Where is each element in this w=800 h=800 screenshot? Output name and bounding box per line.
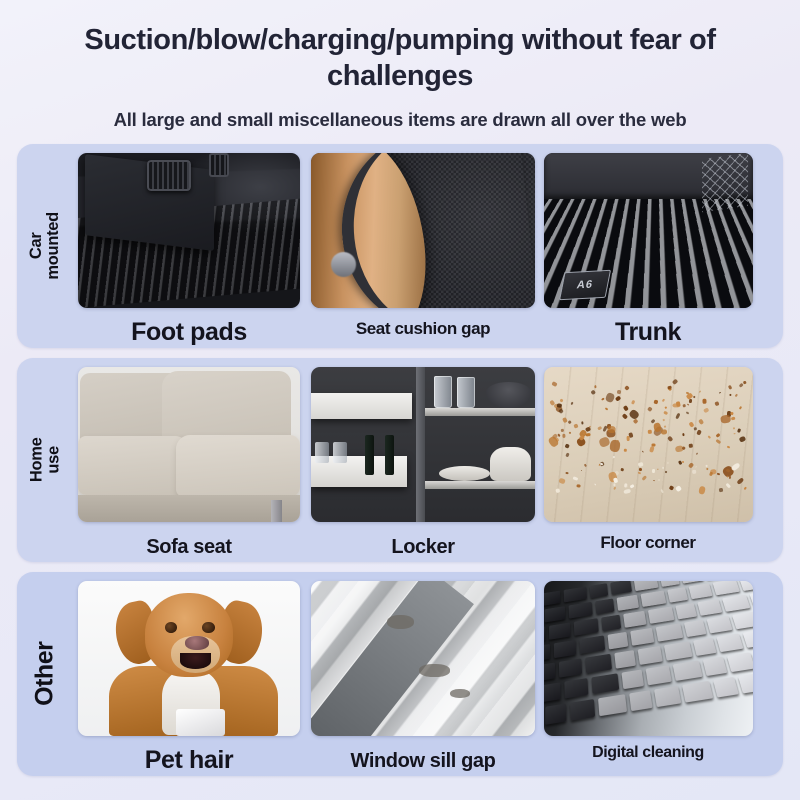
sofa-base [78, 495, 300, 521]
page-title: Suction/blow/charging/pumping without fe… [30, 22, 770, 95]
cabinet-shelf-upper [425, 408, 535, 416]
cabinet-shelf-lower [425, 481, 535, 489]
cell-caption: Pet hair [145, 748, 234, 773]
mat-panel-shape [85, 154, 214, 250]
cell-locker[interactable]: Locker [305, 358, 541, 562]
category-row-car-mounted: Car mounted Foot pads Seat c [17, 144, 783, 348]
sill-dirt [387, 615, 414, 629]
cell-pet-hair[interactable]: Pet hair [73, 572, 305, 776]
cabinet-drawer-top [311, 393, 412, 419]
laptop-keyboard-photo[interactable] [544, 581, 753, 736]
row-label-home-use: Home use [17, 358, 73, 562]
wine-bottle [365, 435, 374, 475]
stacked-bowls [490, 447, 530, 481]
cell-caption: Sofa seat [146, 537, 231, 557]
cell-seat-cushion-gap[interactable]: Seat cushion gap [305, 144, 541, 348]
cell-caption: Floor corner [600, 534, 695, 551]
cell-sofa-seat[interactable]: Sofa seat [73, 358, 305, 562]
brake-pedal-icon [209, 153, 229, 178]
cell-caption: Digital cleaning [592, 745, 704, 761]
cell-caption: Seat cushion gap [356, 320, 490, 337]
cake-stand [486, 382, 531, 408]
row-label-other: Other [17, 572, 73, 776]
seat-rail-chrome [331, 252, 356, 277]
cell-window-sill-gap[interactable]: Window sill gap [305, 572, 541, 776]
sill-groove [311, 581, 474, 736]
dog-eye-left [165, 622, 177, 633]
category-row-home-use: Home use Sofa seat [17, 358, 783, 562]
cargo-net-icon [702, 153, 748, 212]
trunk-badge: A6 [559, 270, 611, 301]
beige-sofa-photo[interactable] [78, 367, 300, 522]
cell-caption: Foot pads [131, 320, 247, 345]
keyboard-keys [544, 581, 753, 736]
sofa-seat-cushion-right [176, 435, 300, 497]
dog-mouth [180, 653, 211, 669]
sill-dirt [419, 664, 450, 676]
cell-digital-cleaning[interactable]: Digital cleaning [541, 572, 755, 776]
cabinet-divider [416, 367, 425, 522]
row-cells: Pet hair Window sill gap Digital [73, 572, 783, 776]
stacked-plates [439, 466, 491, 482]
storage-jar [457, 377, 475, 408]
dog-eye-right [202, 622, 214, 633]
sofa-seat-cushion-left [78, 436, 189, 495]
cell-caption: Window sill gap [351, 751, 496, 771]
cell-caption: Locker [391, 537, 454, 557]
paper-in-mouth [176, 709, 225, 735]
row-label-car-mounted: Car mounted [17, 144, 73, 348]
sofa-leg [271, 500, 282, 522]
car-trunk-liner-photo[interactable]: A6 [544, 153, 753, 308]
crumbs-on-floor-photo[interactable] [544, 367, 753, 522]
row-cells: Foot pads Seat cushion gap A6 [73, 144, 783, 348]
row-label-text: Car mounted [28, 212, 62, 280]
category-rows: Car mounted Foot pads Seat c [17, 144, 783, 776]
category-row-other: Other [17, 572, 783, 776]
wine-bottle [385, 435, 394, 475]
storage-jar [434, 376, 452, 409]
cell-floor-corner[interactable]: Floor corner [541, 358, 755, 562]
crumb-debris [544, 367, 753, 522]
row-cells: Sofa seat [73, 358, 783, 562]
glass-jar [315, 442, 328, 462]
sill-dirt [450, 689, 470, 698]
kitchen-cabinet-photo[interactable] [311, 367, 535, 522]
car-seat-cushion-gap-photo[interactable] [311, 153, 535, 308]
product-infographic: Suction/blow/charging/pumping without fe… [0, 0, 800, 800]
cell-trunk[interactable]: A6 Trunk [541, 144, 755, 348]
cell-foot-pads[interactable]: Foot pads [73, 144, 305, 348]
window-sill-track-photo[interactable] [311, 581, 535, 736]
glass-jar [333, 442, 346, 462]
dog-nose [185, 636, 209, 650]
dog-photo[interactable] [78, 581, 300, 736]
seat-edge-curve [333, 153, 535, 308]
row-label-text: Other [32, 641, 58, 705]
page-subtitle: All large and small miscellaneous items … [20, 109, 780, 131]
cell-caption: Trunk [615, 320, 681, 345]
row-label-text: Home use [28, 437, 62, 482]
car-floor-mat-photo[interactable] [78, 153, 300, 308]
